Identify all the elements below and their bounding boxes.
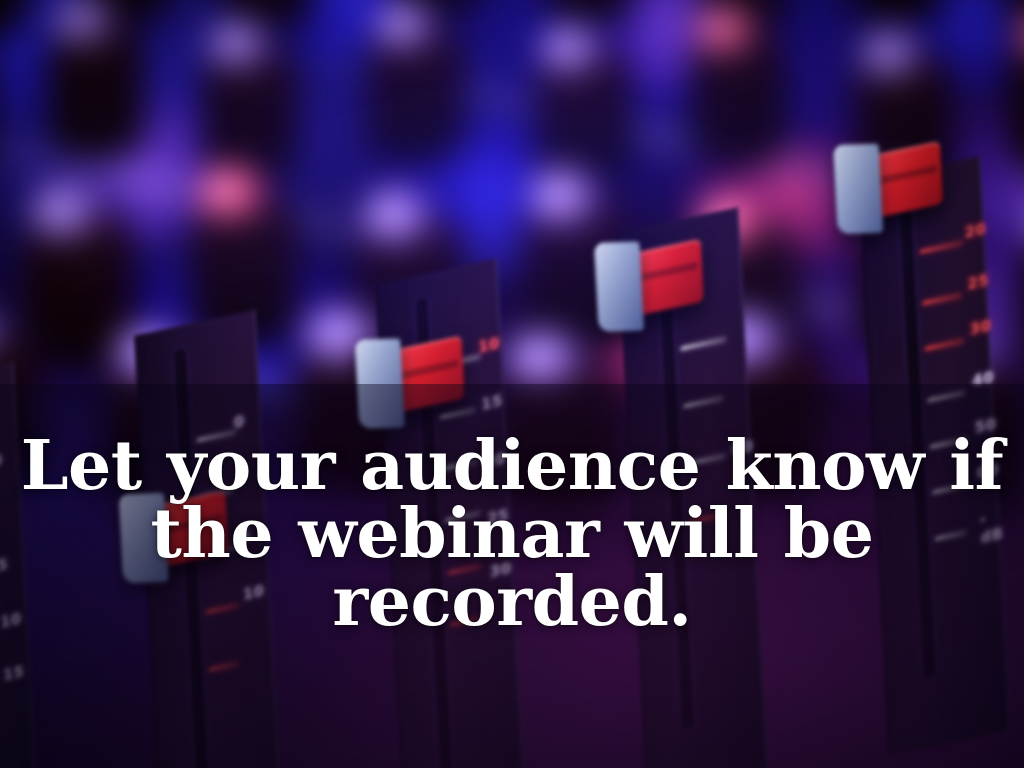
caption-line-2: the webinar will be [14, 500, 1010, 568]
caption-line-3: recorded. [14, 568, 1010, 636]
caption-line-1: Let your audience know if [14, 432, 1010, 500]
presentation-slide: 0 5 10 15 0 5 10 [0, 0, 1024, 768]
slide-caption: Let your audience know if the webinar wi… [0, 432, 1024, 636]
